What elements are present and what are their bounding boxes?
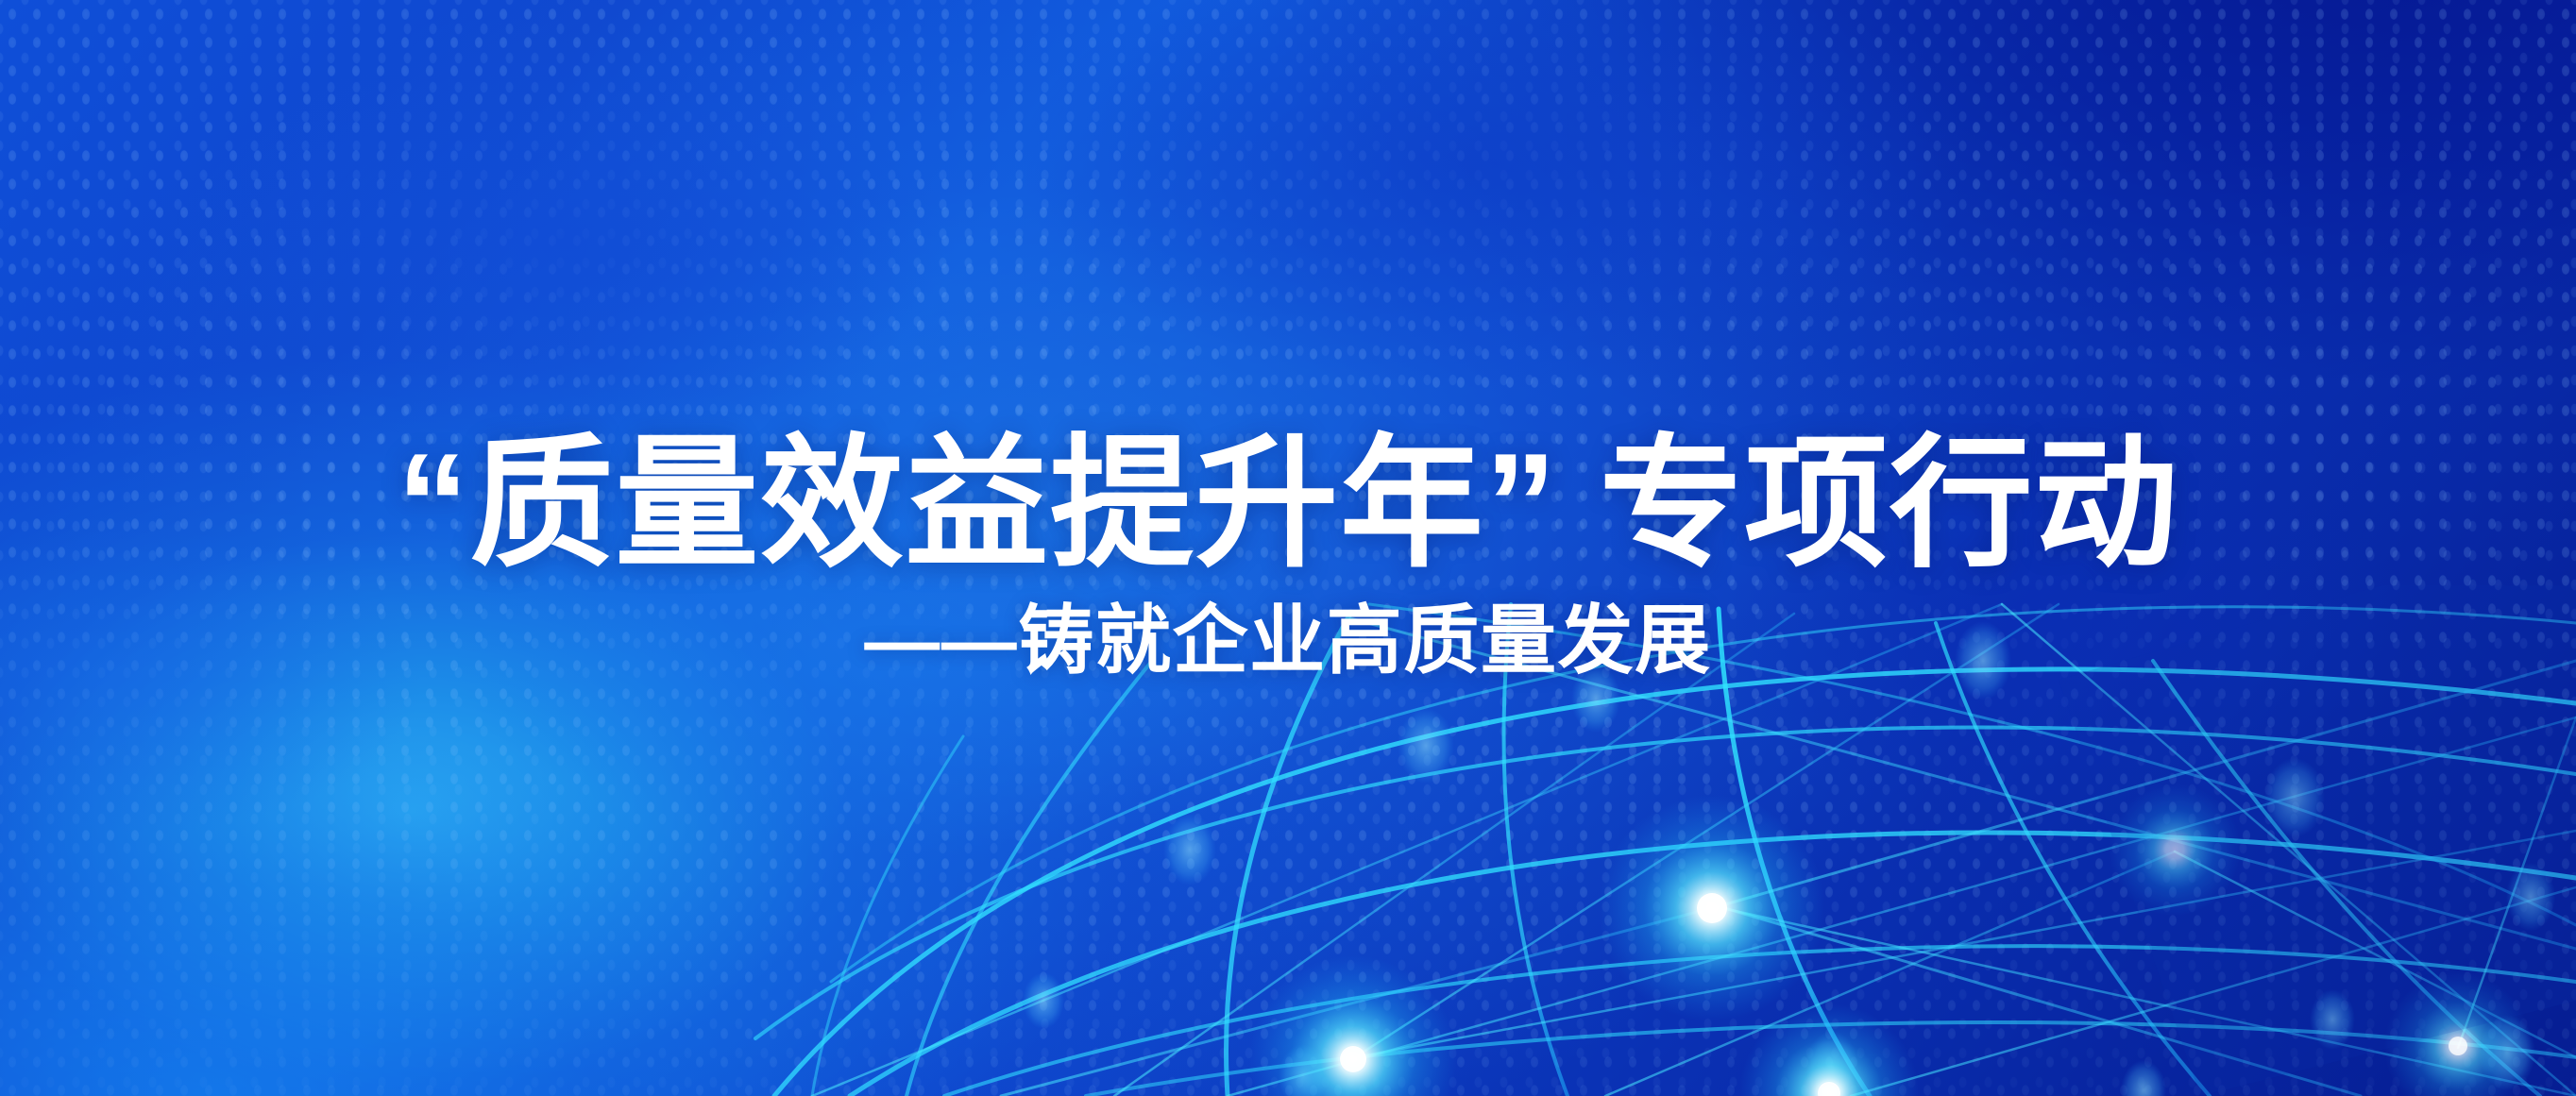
banner-subtitle: ——铸就企业高质量发展	[864, 599, 1712, 683]
banner-title-quoted-text: “质量效益提升年” 专项行动	[397, 424, 2179, 584]
promo-banner: “质量效益提升年” 专项行动 ——铸就企业高质量发展	[0, 0, 2576, 1096]
banner-title: “质量效益提升年” 专项行动	[397, 430, 2179, 579]
banner-text-block: “质量效益提升年” 专项行动 ——铸就企业高质量发展	[0, 0, 2576, 1096]
